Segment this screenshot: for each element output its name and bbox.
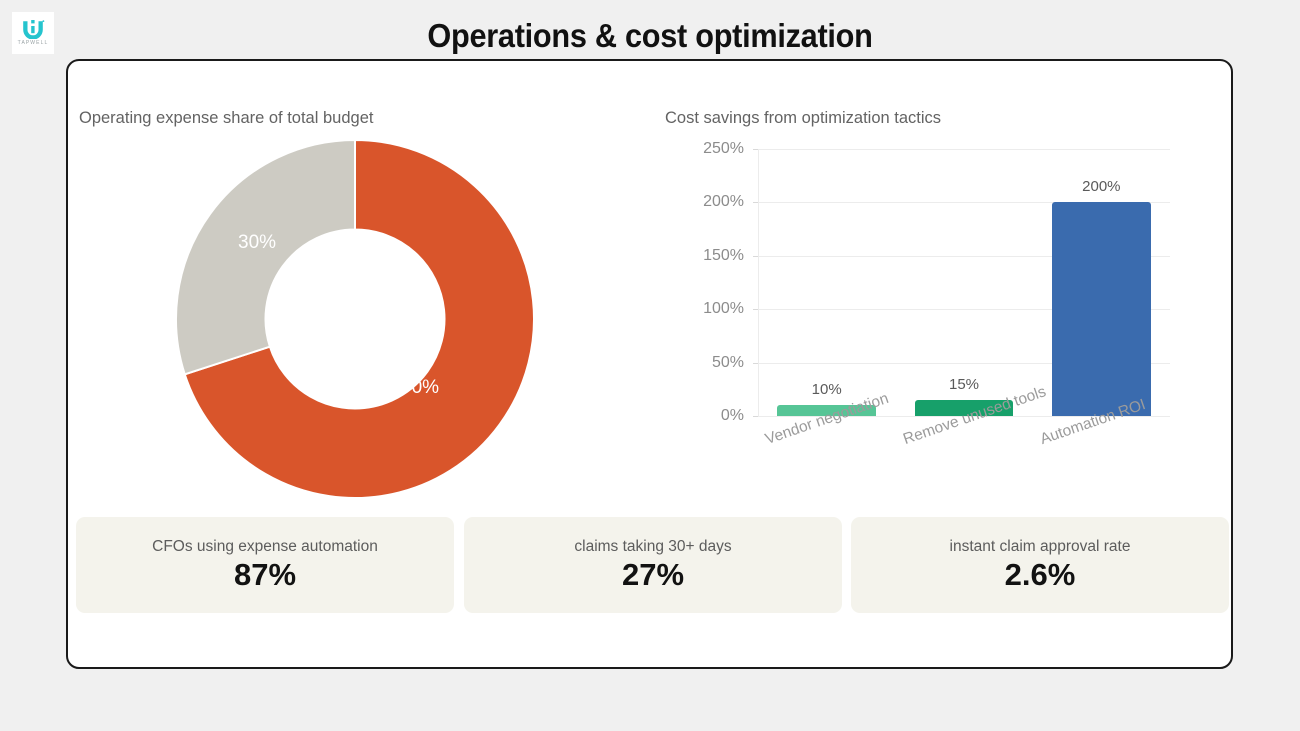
bar-plot-area: 0%50%100%150%200%250%10%Vendor negotiati… <box>758 149 1170 416</box>
bar-chart: 0%50%100%150%200%250%10%Vendor negotiati… <box>662 135 1222 555</box>
slide-root: TAPWELL Operations & cost optimization O… <box>0 0 1300 731</box>
donut-chart: 70% 30% <box>176 140 534 498</box>
tapwell-logo-icon <box>21 20 45 39</box>
y-tick-label-1: 50% <box>660 354 744 372</box>
y-axis-line <box>758 149 759 416</box>
y-tick-mark-3 <box>753 256 758 257</box>
brand-wordmark: TAPWELL <box>18 40 49 46</box>
bar-value-label-2: 200% <box>1082 178 1120 195</box>
y-tick-mark-2 <box>753 309 758 310</box>
kpi-label-0: CFOs using expense automation <box>152 538 378 556</box>
kpi-label-1: claims taking 30+ days <box>574 538 731 556</box>
x-tick-label-0: Vendor negotiation <box>763 390 891 449</box>
bar-value-label-1: 15% <box>949 376 979 393</box>
y-tick-mark-5 <box>753 149 758 150</box>
bar-value-label-0: 10% <box>812 381 842 398</box>
y-tick-label-0: 0% <box>660 407 744 425</box>
kpi-value-2: 2.6% <box>1005 558 1076 593</box>
kpi-card-0[interactable]: CFOs using expense automation 87% <box>76 517 454 613</box>
content-card: Operating expense share of total budget … <box>66 59 1233 669</box>
y-tick-label-4: 200% <box>660 193 744 211</box>
kpi-card-2[interactable]: instant claim approval rate 2.6% <box>851 517 1229 613</box>
bar-chart-title: Cost savings from optimization tactics <box>665 109 941 128</box>
donut-chart-title: Operating expense share of total budget <box>79 109 373 128</box>
gridline-5 <box>758 149 1170 150</box>
y-tick-label-3: 150% <box>660 247 744 265</box>
kpi-value-0: 87% <box>234 558 296 593</box>
y-tick-mark-1 <box>753 363 758 364</box>
bar-2[interactable] <box>1052 202 1151 416</box>
page-title: Operations & cost optimization <box>46 17 1255 55</box>
y-tick-label-2: 100% <box>660 300 744 318</box>
y-tick-label-5: 250% <box>660 140 744 158</box>
kpi-card-1[interactable]: claims taking 30+ days 27% <box>464 517 842 613</box>
kpi-value-1: 27% <box>622 558 684 593</box>
kpi-label-2: instant claim approval rate <box>950 538 1131 556</box>
y-tick-mark-4 <box>753 202 758 203</box>
y-tick-mark-0 <box>753 416 758 417</box>
donut-slice-1[interactable] <box>176 140 355 374</box>
